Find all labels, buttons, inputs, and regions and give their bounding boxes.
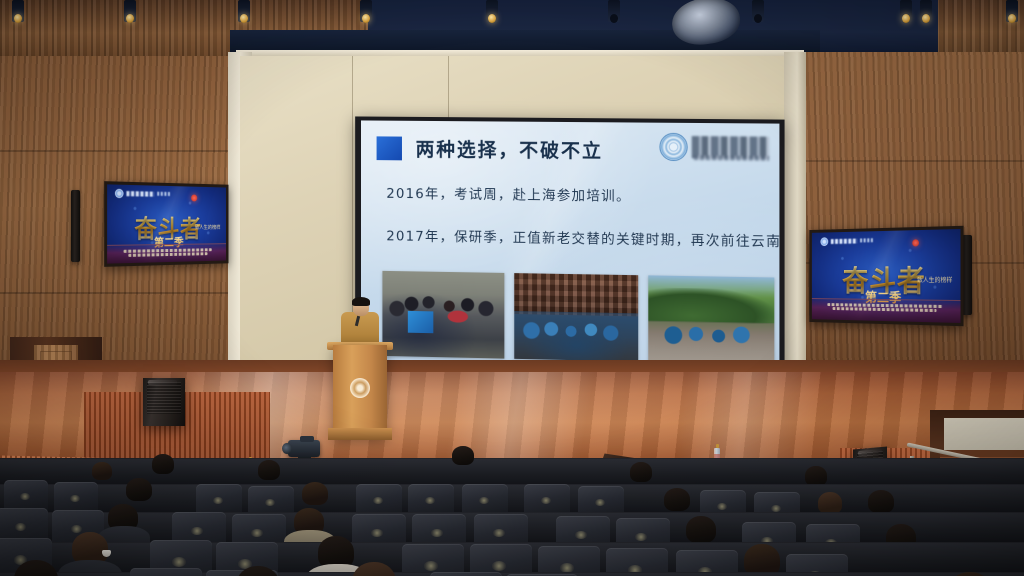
proscenium-right (784, 52, 806, 412)
side-monitor-right: 奋斗者 致人生的榜样 第二季 (809, 226, 963, 326)
audience-head (664, 488, 690, 511)
monitor-footer (107, 243, 226, 264)
spotlight-icon (486, 0, 498, 22)
audience-head (818, 492, 842, 514)
audience-head (630, 462, 652, 482)
monitor-accent-dot-icon (913, 239, 920, 246)
spotlight-icon (920, 0, 932, 22)
wall-seam (790, 160, 1024, 162)
spotlight-icon (238, 0, 250, 22)
spotlight-icon (1006, 0, 1018, 22)
spotlight-icon (752, 0, 764, 22)
auditorium-photo: 两种选择，不破不立 2016年，考试周，赴上海参加培训。 2017年，保研季，正… (0, 0, 1024, 576)
audience-head (452, 446, 474, 465)
slide-surface: 两种选择，不破不立 2016年，考试周，赴上海参加培训。 2017年，保研季，正… (361, 120, 779, 388)
monitor-logo (115, 189, 170, 199)
monitor-accent-dot-icon (191, 194, 197, 201)
slide-photo-strip (382, 271, 774, 365)
wall-seam (0, 150, 236, 152)
slide-body-line: 2017年，保研季，正值新老交替的关键时期，再次前往云南。 (386, 224, 779, 250)
audience-head (126, 478, 152, 501)
university-seal-icon (820, 237, 828, 246)
spotlight-icon (900, 0, 912, 22)
monitor-wordmark-sub (860, 238, 873, 242)
wall-speaker-left (71, 190, 80, 262)
spotlight-icon (360, 0, 372, 22)
monitor-tagline: 致人生的榜样 (917, 275, 952, 284)
audience-head (686, 516, 716, 543)
presenter-hair (352, 297, 370, 306)
university-wordmark-sub (694, 155, 769, 161)
monitor-footer-line (833, 307, 937, 312)
monitor-screen: 奋斗者 致人生的榜样 第二季 (812, 229, 961, 323)
slide-title-bullet (377, 136, 402, 160)
monitor-footer (812, 298, 961, 323)
audience-head (805, 466, 827, 486)
spotlight-icon (124, 0, 136, 22)
monitor-tagline: 致人生的榜样 (195, 224, 221, 231)
spotlight-icon (608, 0, 620, 22)
podium-base (328, 428, 392, 440)
monitor-logo (820, 236, 872, 246)
audience-head (92, 462, 112, 480)
audience-area (0, 440, 1024, 576)
audience-head (152, 454, 174, 474)
university-seal-icon (115, 189, 124, 198)
slide-photo (514, 273, 638, 361)
monitor-screen: 奋斗者 致人生的榜样 第二季 (107, 184, 226, 263)
university-seal-icon (659, 133, 687, 161)
floor-speaker-left (143, 378, 185, 426)
speaker-grille (147, 382, 181, 414)
slide-body-line: 2016年，考试周，赴上海参加培训。 (386, 182, 631, 205)
slide-photo (648, 275, 774, 364)
slide-title: 两种选择，不破不立 (416, 135, 603, 164)
side-monitor-left: 奋斗者 致人生的榜样 第二季 (104, 181, 228, 267)
theater-seat (430, 572, 502, 576)
spotlight-icon (12, 0, 24, 22)
audience-head (302, 482, 328, 505)
monitor-wordmark (126, 191, 154, 197)
audience-head (868, 490, 894, 513)
projection-screen: 两种选择，不破不立 2016年，考试周，赴上海参加培训。 2017年，保研季，正… (355, 116, 784, 395)
wall-seam (0, 292, 236, 294)
slide-photo (382, 271, 504, 359)
monitor-wordmark-sub (157, 192, 170, 196)
monitor-footer-line (129, 252, 207, 257)
audience-head (258, 460, 280, 480)
slide-title-row: 两种选择，不破不立 (377, 134, 603, 163)
theater-seat (130, 568, 202, 576)
podium-university-seal-icon (350, 378, 370, 398)
monitor-wordmark (830, 238, 857, 243)
